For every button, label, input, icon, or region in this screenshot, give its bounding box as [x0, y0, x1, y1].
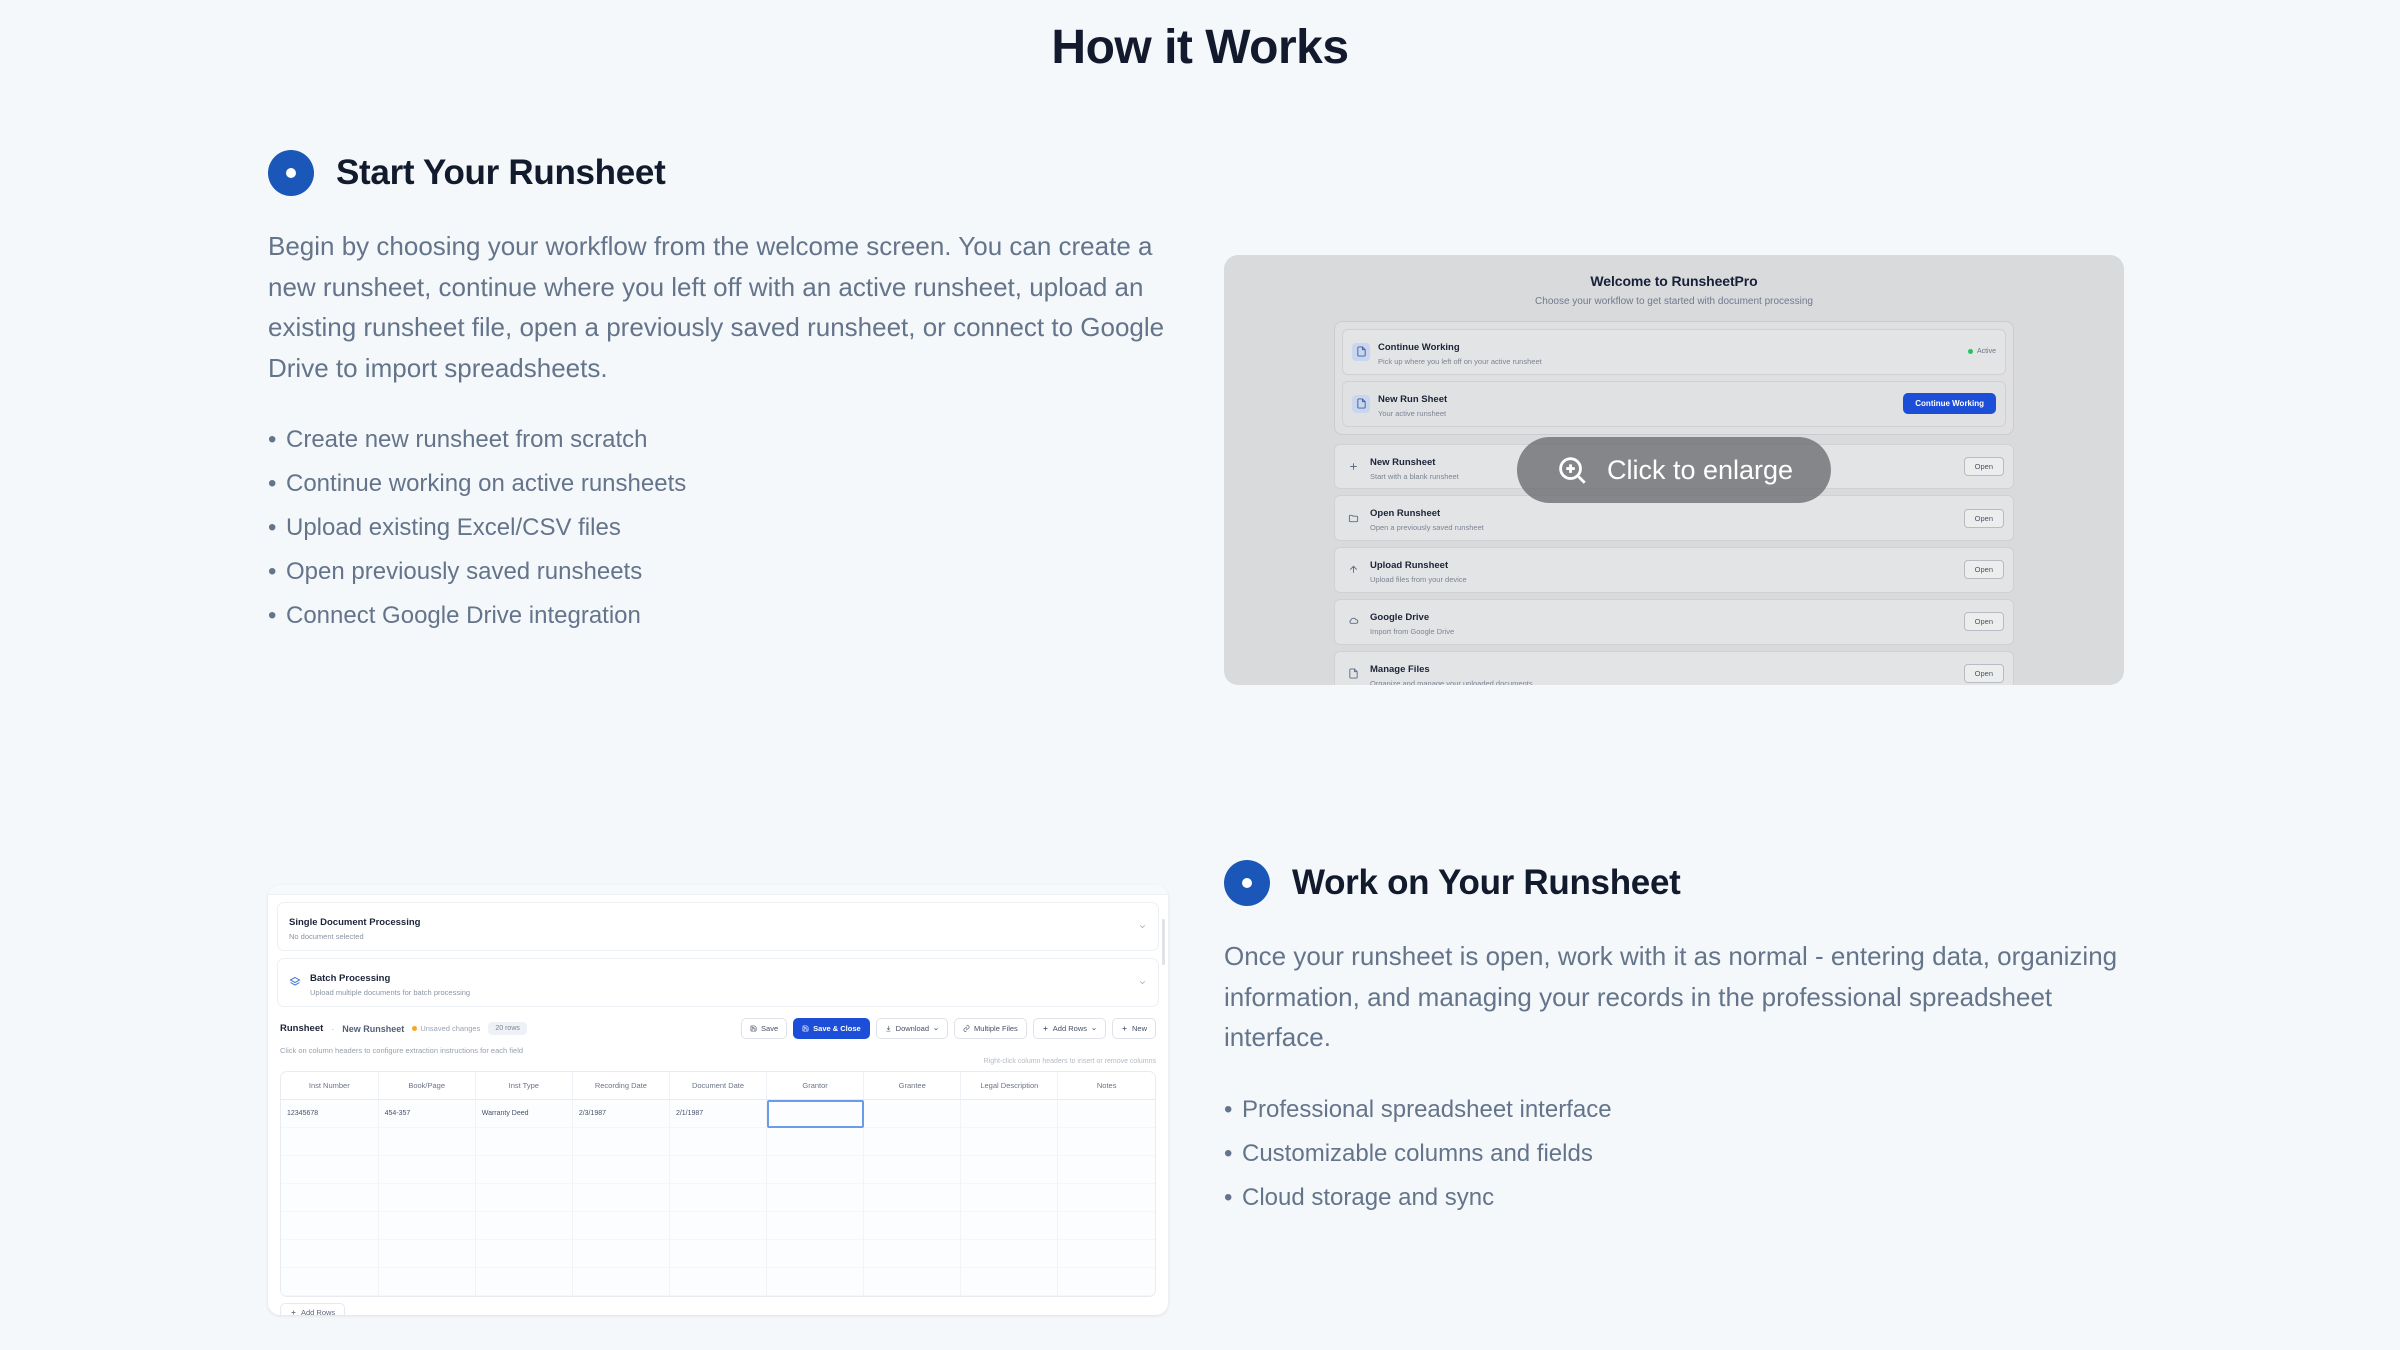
sheet-toolbar: Save Save & Close Download Multiple File…: [741, 1018, 1156, 1039]
status-badge: Active: [1968, 348, 1996, 355]
table-cell[interactable]: [378, 1212, 475, 1240]
column-header[interactable]: Legal Description: [961, 1072, 1058, 1100]
table-cell[interactable]: [1058, 1268, 1155, 1296]
section-bullet-list: Professional spreadsheet interface Custo…: [1224, 1088, 2124, 1220]
save-button[interactable]: Save: [741, 1018, 787, 1039]
table-cell[interactable]: [281, 1156, 378, 1184]
section-title: Start Your Runsheet: [336, 153, 665, 193]
open-button[interactable]: Open: [1964, 560, 2004, 579]
continue-working-group: Continue Working Pick up where you left …: [1334, 321, 2014, 435]
card-title: Batch Processing: [310, 973, 390, 984]
table-cell[interactable]: [864, 1128, 961, 1156]
plus-icon: [1121, 1025, 1128, 1032]
table-cell[interactable]: [378, 1128, 475, 1156]
add-rows-footer-button[interactable]: Add Rows: [280, 1303, 345, 1315]
column-header[interactable]: Recording Date: [572, 1072, 669, 1100]
table-cell[interactable]: 2/3/1987: [572, 1100, 669, 1128]
row-title: Google Drive: [1370, 612, 1429, 623]
row-description: Import from Google Drive: [1370, 627, 1964, 637]
batch-processing-card[interactable]: Batch Processing Upload multiple documen…: [277, 958, 1159, 1007]
section-header: Work on Your Runsheet: [1224, 860, 2124, 906]
table-cell[interactable]: [767, 1240, 864, 1268]
table-cell[interactable]: [864, 1240, 961, 1268]
table-cell-selected[interactable]: [767, 1100, 864, 1128]
table-cell[interactable]: [961, 1128, 1058, 1156]
card-description: Upload multiple documents for batch proc…: [310, 988, 1138, 997]
spreadsheet-screenshot-thumbnail[interactable]: Single Document Processing No document s…: [268, 885, 1168, 1315]
chevron-down-icon[interactable]: [1138, 978, 1147, 987]
screenshot-topbar: [268, 885, 1168, 895]
table-cell[interactable]: [1058, 1156, 1155, 1184]
row-description: Your active runsheet: [1378, 409, 1903, 419]
add-rows-button[interactable]: Add Rows: [1033, 1018, 1106, 1039]
table-cell[interactable]: [572, 1128, 669, 1156]
column-header[interactable]: Grantee: [864, 1072, 961, 1100]
table-cell[interactable]: [572, 1268, 669, 1296]
table-cell[interactable]: [281, 1212, 378, 1240]
table-cell[interactable]: [378, 1156, 475, 1184]
table-cell[interactable]: [572, 1212, 669, 1240]
section-bullet-list: Create new runsheet from scratch Continu…: [268, 418, 1168, 638]
table-row[interactable]: 12345678 454-357 Warranty Deed 2/3/1987 …: [281, 1100, 1155, 1128]
runsheet-name: New Runsheet: [342, 1024, 404, 1034]
table-cell[interactable]: [475, 1268, 572, 1296]
plus-icon: [1344, 457, 1362, 475]
section-body: Once your runsheet is open, work with it…: [1224, 936, 2124, 1058]
document-icon: [1352, 395, 1370, 413]
upload-runsheet-row[interactable]: Upload Runsheet Upload files from your d…: [1334, 547, 2014, 593]
list-item: Upload existing Excel/CSV files: [268, 506, 1168, 550]
table-cell[interactable]: [281, 1184, 378, 1212]
single-document-processing-card[interactable]: Single Document Processing No document s…: [277, 902, 1159, 951]
column-header[interactable]: Book/Page: [378, 1072, 475, 1100]
table-row[interactable]: [281, 1156, 1155, 1184]
section-body: Begin by choosing your workflow from the…: [268, 226, 1168, 388]
save-and-close-button[interactable]: Save & Close: [793, 1018, 870, 1039]
file-icon: [1344, 664, 1362, 682]
table-cell[interactable]: [864, 1268, 961, 1296]
list-item: Open previously saved runsheets: [268, 550, 1168, 594]
table-cell[interactable]: [475, 1240, 572, 1268]
plus-icon: [1042, 1025, 1049, 1032]
column-header[interactable]: Grantor: [767, 1072, 864, 1100]
table-cell[interactable]: [864, 1100, 961, 1128]
table-cell[interactable]: [475, 1212, 572, 1240]
table-cell[interactable]: [572, 1184, 669, 1212]
column-hint-text: Click on column headers to configure ext…: [268, 1039, 1168, 1055]
row-description: Upload files from your device: [1370, 575, 1964, 585]
table-cell[interactable]: [864, 1184, 961, 1212]
breadcrumb-separator: ·: [331, 1024, 334, 1034]
table-cell[interactable]: [1058, 1212, 1155, 1240]
table-cell[interactable]: [1058, 1184, 1155, 1212]
table-cell[interactable]: [475, 1184, 572, 1212]
card-title: Single Document Processing: [289, 917, 420, 928]
table-row[interactable]: [281, 1268, 1155, 1296]
table-row[interactable]: [281, 1184, 1155, 1212]
list-item: Create new runsheet from scratch: [268, 418, 1168, 462]
continue-working-button[interactable]: Continue Working: [1903, 393, 1996, 414]
table-cell[interactable]: [669, 1268, 766, 1296]
welcome-screenshot-thumbnail[interactable]: Welcome to RunsheetPro Choose your workf…: [1224, 255, 2124, 685]
link-icon: [963, 1025, 970, 1032]
table-cell[interactable]: [767, 1156, 864, 1184]
table-cell[interactable]: [864, 1212, 961, 1240]
table-cell[interactable]: [961, 1240, 1058, 1268]
row-title: Upload Runsheet: [1370, 560, 1448, 571]
row-description: Open a previously saved runsheet: [1370, 523, 1964, 533]
welcome-title: Welcome to RunsheetPro: [1334, 273, 2014, 289]
new-button[interactable]: New: [1112, 1018, 1156, 1039]
table-row[interactable]: [281, 1212, 1155, 1240]
list-item: Connect Google Drive integration: [268, 594, 1168, 638]
layers-icon: [289, 976, 302, 989]
table-cell[interactable]: [1058, 1128, 1155, 1156]
table-cell[interactable]: [669, 1156, 766, 1184]
open-button[interactable]: Open: [1964, 509, 2004, 528]
table-cell[interactable]: [669, 1212, 766, 1240]
table-cell[interactable]: [961, 1100, 1058, 1128]
row-title: Open Runsheet: [1370, 508, 1440, 519]
section-header: Start Your Runsheet: [268, 150, 1168, 196]
table-cell[interactable]: [1058, 1100, 1155, 1128]
multiple-files-button[interactable]: Multiple Files: [954, 1018, 1027, 1039]
table-header-row: Inst Number Book/Page Inst Type Recordin…: [281, 1072, 1155, 1100]
table-cell[interactable]: [767, 1128, 864, 1156]
table-cell[interactable]: [281, 1268, 378, 1296]
column-hint-text-secondary: Right-click column headers to insert or …: [268, 1055, 1168, 1065]
how-it-works-page: How it Works Start Your Runsheet Begin b…: [0, 0, 2400, 1350]
table-cell[interactable]: [281, 1240, 378, 1268]
download-button[interactable]: Download: [876, 1018, 948, 1039]
scrollbar[interactable]: [1162, 919, 1165, 965]
chevron-down-icon: [1091, 1026, 1097, 1032]
table-cell[interactable]: 2/1/1987: [669, 1100, 766, 1128]
zoom-in-icon: [1555, 453, 1589, 487]
unsaved-changes-badge: Unsaved changes: [412, 1024, 480, 1033]
table-cell[interactable]: [961, 1212, 1058, 1240]
table-cell[interactable]: Warranty Deed: [475, 1100, 572, 1128]
table-cell[interactable]: [1058, 1240, 1155, 1268]
table-cell[interactable]: [669, 1128, 766, 1156]
cloud-icon: [1344, 613, 1362, 631]
table-row[interactable]: [281, 1240, 1155, 1268]
page-title: How it Works: [0, 0, 2400, 75]
plus-icon: [290, 1309, 297, 1315]
table-cell[interactable]: [961, 1156, 1058, 1184]
dot-icon: [268, 150, 314, 196]
upload-icon: [1344, 561, 1362, 579]
table-cell[interactable]: [767, 1212, 864, 1240]
row-title: Continue Working: [1378, 342, 1460, 353]
runsheet-meta-bar: Runsheet · New Runsheet Unsaved changes …: [268, 1014, 1168, 1039]
overlay-label: Click to enlarge: [1607, 455, 1793, 486]
chevron-down-icon: [933, 1026, 939, 1032]
column-header[interactable]: Inst Type: [475, 1072, 572, 1100]
welcome-subtitle: Choose your workflow to get started with…: [1334, 296, 2014, 307]
open-button[interactable]: Open: [1964, 664, 2004, 683]
table-cell[interactable]: [475, 1128, 572, 1156]
column-header[interactable]: Inst Number: [281, 1072, 378, 1100]
manage-files-row[interactable]: Manage Files Organize and manage your up…: [1334, 651, 2014, 686]
table-cell[interactable]: [475, 1156, 572, 1184]
runsheet-table-container: Inst Number Book/Page Inst Type Recordin…: [280, 1071, 1156, 1297]
click-to-enlarge-overlay[interactable]: Click to enlarge: [1517, 437, 1831, 503]
google-drive-row[interactable]: Google Drive Import from Google Drive Op…: [1334, 599, 2014, 645]
table-cell[interactable]: [378, 1184, 475, 1212]
row-title: Manage Files: [1370, 664, 1430, 675]
open-button[interactable]: Open: [1964, 457, 2004, 476]
folder-icon: [1344, 509, 1362, 527]
table-cell[interactable]: [669, 1240, 766, 1268]
download-icon: [885, 1025, 892, 1032]
open-button[interactable]: Open: [1964, 612, 2004, 631]
table-cell[interactable]: 454-357: [378, 1100, 475, 1128]
table-cell[interactable]: [572, 1240, 669, 1268]
table-cell[interactable]: [378, 1268, 475, 1296]
table-cell[interactable]: [378, 1240, 475, 1268]
runsheet-table: Inst Number Book/Page Inst Type Recordin…: [281, 1072, 1155, 1296]
row-title: New Run Sheet: [1378, 394, 1447, 405]
continue-working-row[interactable]: Continue Working Pick up where you left …: [1342, 329, 2006, 375]
table-cell[interactable]: [864, 1156, 961, 1184]
list-item: Customizable columns and fields: [1224, 1132, 2124, 1176]
table-cell[interactable]: [767, 1184, 864, 1212]
table-cell[interactable]: [281, 1128, 378, 1156]
table-row[interactable]: [281, 1128, 1155, 1156]
card-description: No document selected: [289, 932, 1138, 941]
active-runsheet-row[interactable]: New Run Sheet Your active runsheet Conti…: [1342, 381, 2006, 427]
dot-icon: [1224, 860, 1270, 906]
document-icon: [1352, 343, 1370, 361]
table-cell[interactable]: [767, 1268, 864, 1296]
row-title: New Runsheet: [1370, 457, 1435, 468]
save-icon: [802, 1025, 809, 1032]
column-header[interactable]: Notes: [1058, 1072, 1155, 1100]
chevron-down-icon[interactable]: [1138, 922, 1147, 931]
table-cell[interactable]: [961, 1184, 1058, 1212]
list-item: Cloud storage and sync: [1224, 1176, 2124, 1220]
section-title: Work on Your Runsheet: [1292, 863, 1680, 903]
table-cell[interactable]: [669, 1184, 766, 1212]
list-item: Continue working on active runsheets: [268, 462, 1168, 506]
table-cell[interactable]: [961, 1268, 1058, 1296]
row-description: Organize and manage your uploaded docume…: [1370, 679, 1964, 686]
table-cell[interactable]: [572, 1156, 669, 1184]
rows-count-badge: 20 rows: [488, 1022, 527, 1035]
breadcrumb-label: Runsheet: [280, 1023, 323, 1034]
list-item: Professional spreadsheet interface: [1224, 1088, 2124, 1132]
row-description: Pick up where you left off on your activ…: [1378, 357, 1968, 367]
column-header[interactable]: Document Date: [669, 1072, 766, 1100]
table-cell[interactable]: 12345678: [281, 1100, 378, 1128]
save-icon: [750, 1025, 757, 1032]
